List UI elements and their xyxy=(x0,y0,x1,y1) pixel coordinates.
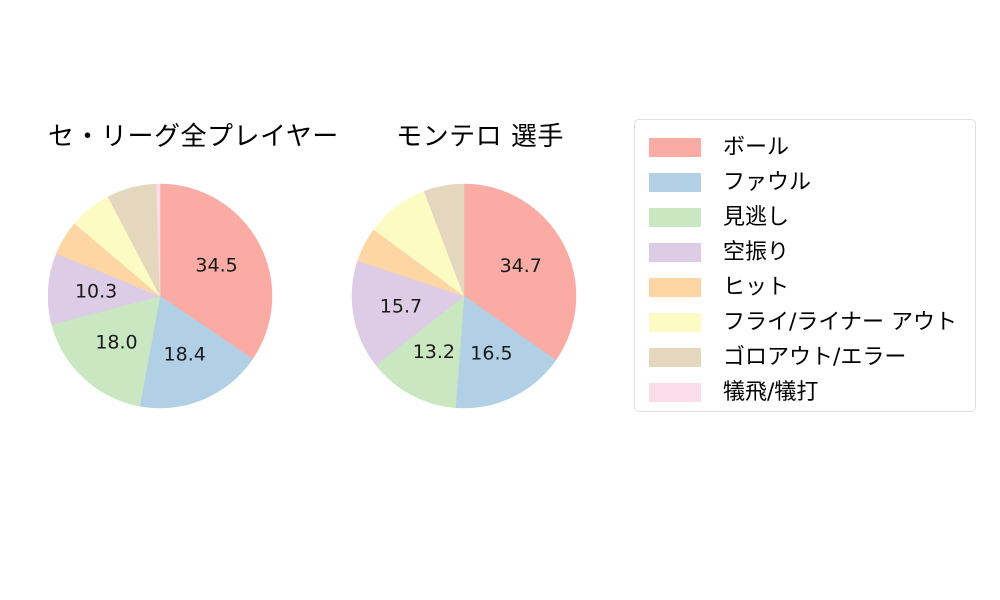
pie-svg-league: 34.518.418.010.3 xyxy=(48,176,308,416)
pie-title-league: セ・リーグ全プレイヤー xyxy=(48,120,308,154)
legend-swatch-ball xyxy=(649,138,701,157)
legend-item-fly-liner-out[interactable]: フライ/ライナー アウト xyxy=(635,305,975,340)
pie-slice-label-called-strike: 18.0 xyxy=(95,331,137,353)
legend-item-swing-miss[interactable]: 空振り xyxy=(635,235,975,270)
legend-item-ball[interactable]: ボール xyxy=(635,130,975,165)
pie-slice-label-called-strike: 13.2 xyxy=(413,341,455,363)
legend-label-fly-liner-out: フライ/ライナー アウト xyxy=(723,310,957,336)
legend-label-sacrifice: 犠飛/犠打 xyxy=(723,380,818,406)
pie-title-player: モンテロ 選手 xyxy=(350,120,610,154)
pie-canvas-league: 34.518.418.010.3 xyxy=(48,176,308,416)
legend-item-ground-out-error[interactable]: ゴロアウト/エラー xyxy=(635,340,975,375)
legend-swatch-fly-liner-out xyxy=(649,313,701,332)
legend-label-called-strike: 見逃し xyxy=(723,205,789,231)
pie-panel-player: モンテロ 選手 34.716.513.215.7 xyxy=(350,120,610,420)
legend-swatch-hit xyxy=(649,278,701,297)
legend-item-foul[interactable]: ファウル xyxy=(635,165,975,200)
pie-svg-player: 34.716.513.215.7 xyxy=(350,176,610,416)
legend-label-foul: ファウル xyxy=(723,170,811,196)
legend-swatch-ground-out-error xyxy=(649,348,701,367)
legend-swatch-swing-miss xyxy=(649,243,701,262)
legend-item-hit[interactable]: ヒット xyxy=(635,270,975,305)
legend-label-ground-out-error: ゴロアウト/エラー xyxy=(723,345,906,371)
legend-swatch-called-strike xyxy=(649,208,701,227)
legend-item-sacrifice[interactable]: 犠飛/犠打 xyxy=(635,375,975,410)
legend-item-called-strike[interactable]: 見逃し xyxy=(635,200,975,235)
legend-label-ball: ボール xyxy=(723,135,789,161)
pie-slice-label-foul: 18.4 xyxy=(164,344,206,366)
pie-slice-label-swing-miss: 15.7 xyxy=(380,296,422,318)
legend-label-swing-miss: 空振り xyxy=(723,240,789,266)
pie-slice-label-foul: 16.5 xyxy=(470,342,512,364)
legend-label-hit: ヒット xyxy=(723,275,789,301)
pie-slice-label-ball: 34.5 xyxy=(195,255,237,277)
legend-swatch-sacrifice xyxy=(649,383,701,402)
pie-slice-label-ball: 34.7 xyxy=(500,255,542,277)
pie-panel-league: セ・リーグ全プレイヤー 34.518.418.010.3 xyxy=(48,120,308,420)
pie-chart-figure: セ・リーグ全プレイヤー 34.518.418.010.3 モンテロ 選手 34.… xyxy=(0,0,1000,600)
pie-slice-label-swing-miss: 10.3 xyxy=(75,280,117,302)
legend-swatch-foul xyxy=(649,173,701,192)
chart-legend: ボール ファウル 見逃し 空振り ヒット フライ/ライナー アウト ゴロアウト/… xyxy=(634,119,976,412)
pie-canvas-player: 34.716.513.215.7 xyxy=(350,176,610,416)
